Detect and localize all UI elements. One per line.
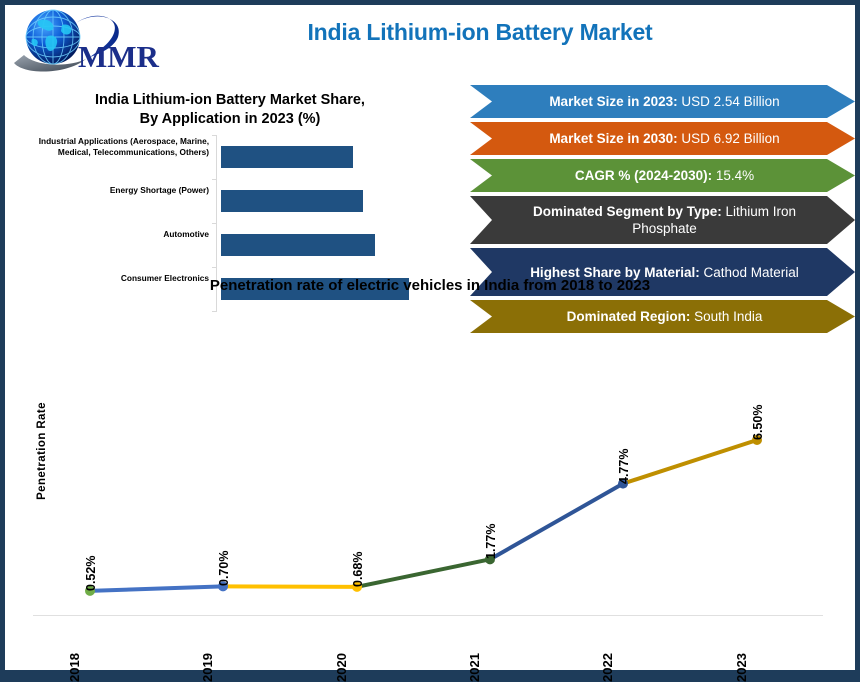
data-label-2022: 4.77%	[617, 448, 631, 483]
line-chart-y-axis-label: Penetration Rate	[36, 386, 48, 516]
page-title: India Lithium-ion Battery Market	[245, 19, 715, 46]
key-highlights-banners: Market Size in 2023: USD 2.54 BillionMar…	[470, 85, 855, 340]
banner-value-market-size-2023: USD 2.54 Billion	[678, 94, 780, 109]
line-chart-baseline	[33, 615, 823, 616]
bar-label: Automotive	[11, 229, 209, 240]
data-label-2020: 0.68%	[351, 551, 365, 586]
x-tick-2021: 2021	[467, 653, 482, 682]
line-segment	[490, 484, 623, 560]
data-label-2019: 0.70%	[217, 551, 231, 586]
data-label-2018: 0.52%	[84, 555, 98, 590]
banner-label-market-size-2023: Market Size in 2023:	[549, 94, 677, 109]
line-chart-title: Penetration rate of electric vehicles in…	[65, 277, 795, 294]
banner-cagr[interactable]: CAGR % (2024-2030): 15.4%	[470, 159, 855, 192]
line-chart-svg	[5, 305, 855, 665]
bar-chart-title-line1: India Lithium-ion Battery Market Share,	[95, 92, 365, 108]
bar-row: Automotive	[5, 223, 445, 267]
data-label-2023: 6.50%	[751, 405, 765, 440]
bar-industrial-applications	[221, 146, 353, 168]
header: MMR India Lithium-ion Battery Market	[5, 5, 855, 77]
x-tick-2018: 2018	[67, 653, 82, 682]
banner-text-market-size-2023: Market Size in 2023: USD 2.54 Billion	[470, 85, 855, 118]
data-label-2021: 1.77%	[484, 524, 498, 559]
banner-label-cagr: CAGR % (2024-2030):	[575, 168, 712, 183]
banner-text-dominated-segment-by-type: Dominated Segment by Type: Lithium Iron …	[470, 196, 855, 244]
logo-text: MMR	[78, 39, 160, 74]
infographic-frame: MMR India Lithium-ion Battery Market Ind…	[5, 5, 855, 670]
line-segment	[90, 586, 223, 591]
line-segment	[223, 586, 357, 587]
banner-text-market-size-2030: Market Size in 2030: USD 6.92 Billion	[470, 122, 855, 155]
line-segment	[623, 440, 757, 484]
bar-chart-title: India Lithium-ion Battery Market Share, …	[45, 91, 415, 129]
line-segment	[357, 559, 490, 587]
bar-energy-shortage	[221, 190, 363, 212]
bar-row: Energy Shortage (Power)	[5, 179, 445, 223]
bar-row: Industrial Applications (Aerospace, Mari…	[5, 135, 445, 179]
bar-label: Industrial Applications (Aerospace, Mari…	[11, 136, 209, 157]
banner-label-dominated-segment-by-type: Dominated Segment by Type:	[533, 204, 722, 219]
banner-value-market-size-2030: USD 6.92 Billion	[678, 131, 780, 146]
banner-market-size-2023[interactable]: Market Size in 2023: USD 2.54 Billion	[470, 85, 855, 118]
line-chart-panel: Penetration Rate 0.52%20180.70%20190.68%…	[5, 305, 855, 665]
banner-text-cagr: CAGR % (2024-2030): 15.4%	[470, 159, 855, 192]
banner-label-market-size-2030: Market Size in 2030:	[549, 131, 677, 146]
x-tick-2020: 2020	[334, 653, 349, 682]
bar-chart-title-line2: By Application in 2023 (%)	[140, 111, 321, 127]
bar-automotive	[221, 234, 375, 256]
banner-market-size-2030[interactable]: Market Size in 2030: USD 6.92 Billion	[470, 122, 855, 155]
bar-chart-plot: Industrial Applications (Aerospace, Mari…	[5, 135, 445, 325]
bar-label: Energy Shortage (Power)	[11, 185, 209, 196]
bar-chart-panel: India Lithium-ion Battery Market Share, …	[5, 83, 445, 338]
mmr-globe-logo: MMR	[10, 5, 190, 77]
x-tick-2022: 2022	[600, 653, 615, 682]
banner-value-cagr: 15.4%	[712, 168, 754, 183]
banner-dominated-segment-by-type[interactable]: Dominated Segment by Type: Lithium Iron …	[470, 196, 855, 244]
x-tick-2019: 2019	[200, 653, 215, 682]
x-tick-2023: 2023	[734, 653, 749, 682]
